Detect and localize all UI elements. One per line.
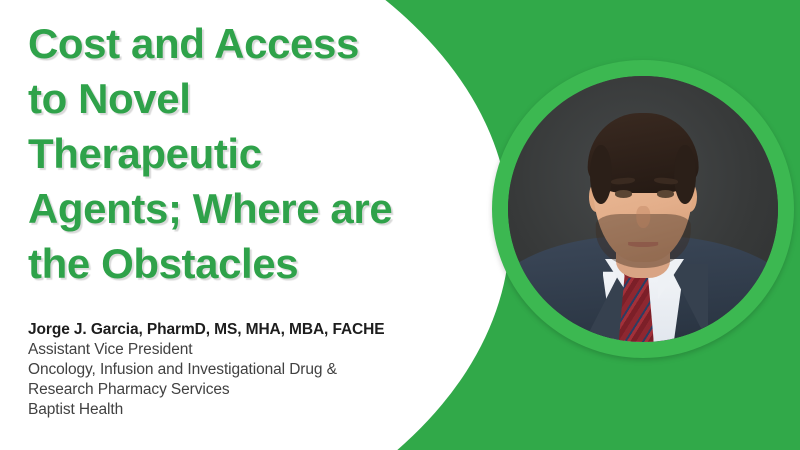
portrait-frame [492,60,794,358]
portrait-photo [508,76,778,342]
presenter-info: Jorge J. Garcia, PharmD, MS, MHA, MBA, F… [28,320,478,420]
title-line-1: Cost and Access [28,16,468,71]
title-slide: Cost and Access to Novel Therapeutic Age… [0,0,800,450]
presenter-title: Assistant Vice President [28,340,478,360]
presenter-name: Jorge J. Garcia, PharmD, MS, MHA, MBA, F… [28,320,478,340]
hair-side-left [590,145,612,204]
title-line-3: Therapeutic [28,126,468,181]
presenter-organization: Baptist Health [28,400,478,420]
title-line-5: the Obstacles [28,236,468,291]
eye-left [615,190,633,197]
title-line-4: Agents; Where are [28,181,468,236]
page-title: Cost and Access to Novel Therapeutic Age… [28,16,468,291]
eye-right [657,190,675,197]
mouth [628,242,658,247]
presenter-department-line-1: Oncology, Infusion and Investigational D… [28,360,478,380]
nose [636,206,650,227]
presenter-department-line-2: Research Pharmacy Services [28,380,478,400]
title-line-2: to Novel [28,71,468,126]
hair-side-right [674,145,696,204]
